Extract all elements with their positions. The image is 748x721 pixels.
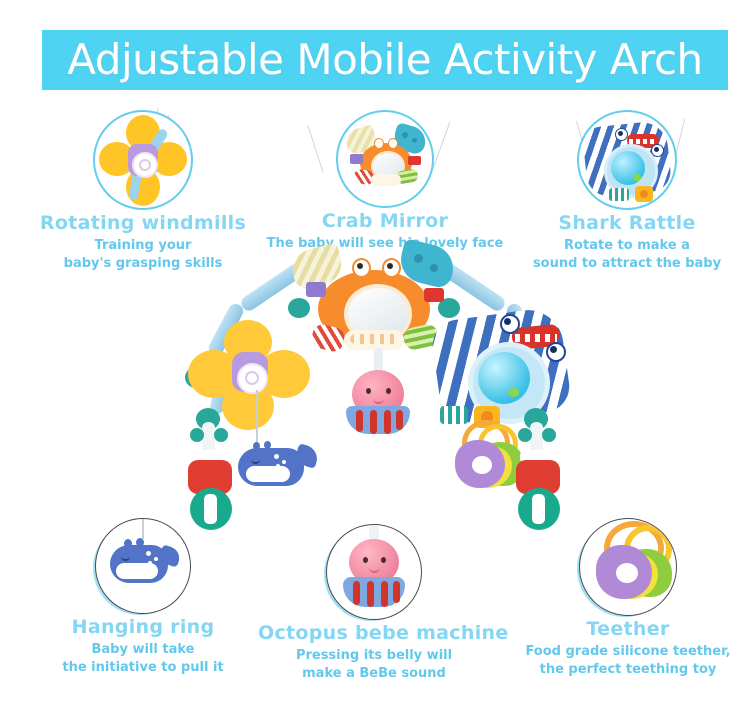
crab-claw-right-spot-1 bbox=[402, 132, 408, 138]
teether-icon-petal-hole bbox=[616, 563, 638, 583]
octopus-leg-stripe-2 bbox=[370, 410, 377, 434]
feature-icon-circle-windmill bbox=[93, 110, 193, 210]
whale-icon-dot-1 bbox=[146, 551, 151, 556]
feature-icon-circle-whale bbox=[95, 518, 191, 614]
product-crab-tag-red bbox=[424, 288, 444, 302]
crab-belly bbox=[371, 174, 401, 186]
product-windmill-spiral-inner bbox=[245, 371, 259, 385]
whale-spout-1 bbox=[253, 442, 260, 450]
octopus-icon-leg-1 bbox=[353, 581, 360, 605]
whale-icon-string bbox=[142, 519, 144, 539]
product-shark-eye-right bbox=[546, 342, 566, 362]
octopus-eye-left bbox=[366, 388, 371, 394]
octopus-leg-stripe-3 bbox=[384, 410, 391, 434]
whale-icon-belly bbox=[116, 563, 158, 579]
leg-rattle-right-wing-r bbox=[542, 428, 556, 442]
shark-eye-right-pupil bbox=[654, 147, 659, 152]
product-crab-claw-spot-2 bbox=[430, 264, 438, 272]
feature-title: Crab Mirror bbox=[260, 210, 510, 232]
whale-dot-1 bbox=[274, 454, 279, 459]
shark-fin-strip bbox=[609, 188, 629, 201]
octopus-icon-leg-3 bbox=[381, 581, 388, 607]
octopus-icon-leg-2 bbox=[367, 581, 374, 607]
leg-rattle-left-wing-l bbox=[190, 428, 204, 442]
whale-dot-3 bbox=[276, 464, 280, 468]
product-shark-eye-left bbox=[500, 314, 520, 334]
octopus-leg-stripe-1 bbox=[356, 410, 363, 432]
title-banner: Adjustable Mobile Activity Arch bbox=[42, 30, 728, 90]
crab-tag-red bbox=[408, 156, 421, 165]
feature-desc-line-1: Food grade silicone teether, bbox=[512, 643, 744, 661]
product-crab-eye-left-pupil bbox=[357, 263, 363, 269]
teether-petal-hole bbox=[472, 456, 492, 474]
octopus-eye-right bbox=[386, 388, 391, 394]
crab-tag-purple bbox=[350, 154, 363, 164]
whale-belly-hole bbox=[246, 466, 290, 482]
crab-eye-left bbox=[374, 138, 384, 149]
whale-icon-spout-1 bbox=[124, 539, 132, 548]
leg-rattle-left-wing-r bbox=[214, 428, 228, 442]
product-crab-belly-dots bbox=[350, 334, 398, 344]
feature-title: Teether bbox=[512, 618, 744, 640]
product-crab-eye-right-pupil bbox=[387, 263, 393, 269]
leg-rattle-right-wing-l bbox=[518, 428, 532, 442]
feature-desc-line-2: the perfect teething toy bbox=[512, 661, 744, 679]
product-shark-eye-left-pupil bbox=[504, 318, 511, 325]
feature-desc-line-1: Baby will take bbox=[28, 641, 258, 659]
whale-icon-dot-2 bbox=[154, 557, 158, 561]
feature-title: Octopus bebe machine bbox=[258, 622, 490, 644]
product-crab-tag-purple bbox=[306, 282, 326, 297]
product-shark-eye-right-pupil bbox=[550, 346, 557, 353]
octopus-icon-eye-left bbox=[363, 557, 368, 563]
octopus-icon-eye-right bbox=[381, 557, 386, 563]
feature-hanging-ring: Hanging ring Baby will take the initiati… bbox=[28, 518, 258, 676]
octopus-icon-leg-4 bbox=[393, 581, 400, 603]
arch-bead-left-1 bbox=[288, 298, 310, 318]
crab-eye-right bbox=[388, 138, 398, 149]
product-shark-teeth bbox=[515, 334, 557, 342]
whale-icon-dot-3 bbox=[148, 561, 152, 565]
feature-icon-circle-crab bbox=[336, 110, 434, 208]
shark-orange-knob-center bbox=[640, 190, 648, 198]
feature-description: Food grade silicone teether, the perfect… bbox=[512, 643, 744, 678]
feature-teether: Teether Food grade silicone teether, the… bbox=[512, 518, 744, 678]
product-shark-rattle-bead bbox=[508, 388, 519, 397]
shark-eye-left-pupil bbox=[618, 131, 623, 136]
infographic-canvas: Adjustable Mobile Activity Arch Rotating… bbox=[0, 0, 748, 721]
feature-octopus-bebe-machine: Octopus bebe machine Pressing its belly … bbox=[258, 524, 490, 682]
feature-title: Hanging ring bbox=[28, 616, 258, 638]
shark-rattle-bead bbox=[633, 174, 641, 181]
octopus-leg-stripe-4 bbox=[396, 410, 403, 430]
feature-icon-circle-shark bbox=[577, 110, 677, 210]
feature-icon-circle-octopus bbox=[326, 524, 422, 620]
feature-description: Baby will take the initiative to pull it bbox=[28, 641, 258, 676]
product-crab-claw-spot-1 bbox=[414, 254, 423, 263]
product-shark-rattle-ball bbox=[478, 352, 530, 404]
whale-icon-spout-2 bbox=[136, 538, 144, 547]
feature-desc-line-1: Pressing its belly will bbox=[258, 647, 490, 665]
feature-desc-line-2: make a BeBe sound bbox=[258, 665, 490, 683]
whale-spout-2 bbox=[264, 441, 271, 449]
feature-description: Pressing its belly will make a BeBe soun… bbox=[258, 647, 490, 682]
feature-desc-line-2: the initiative to pull it bbox=[28, 659, 258, 677]
page-title: Adjustable Mobile Activity Arch bbox=[67, 39, 702, 81]
feature-icon-circle-teether bbox=[579, 518, 677, 616]
windmill-spiral-dot bbox=[139, 159, 151, 171]
product-shark-fin-strip bbox=[440, 406, 468, 424]
whale-dot-2 bbox=[282, 460, 286, 464]
crab-claw-right-spot-2 bbox=[412, 138, 417, 143]
